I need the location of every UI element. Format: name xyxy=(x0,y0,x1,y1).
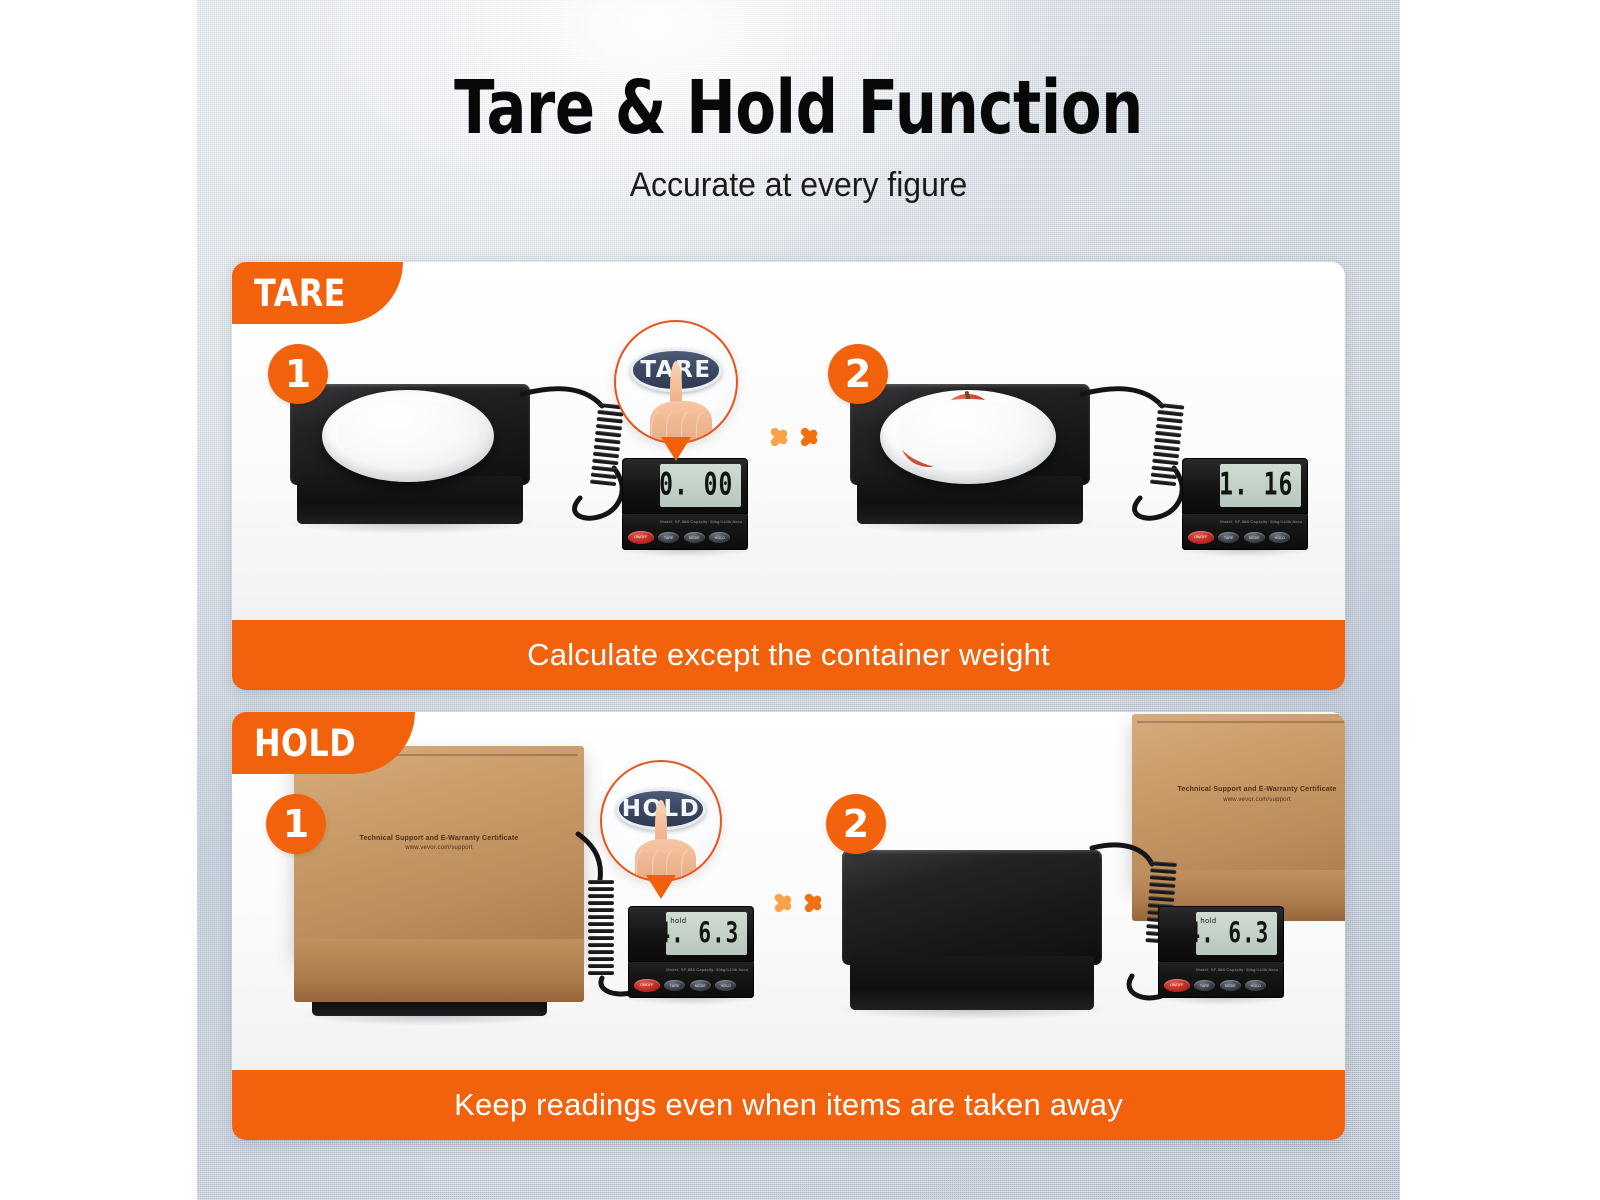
readout-button-housing: Model: SF-888 Capacity: 50kg/110lb Accur… xyxy=(628,961,754,998)
lcd-value: 44. 6.3 xyxy=(1196,917,1269,949)
box-top-face: Technical Support and E-Warranty Certifi… xyxy=(294,746,584,956)
tare-button[interactable]: TARE xyxy=(658,532,679,543)
banner-text: Calculate except the container weight xyxy=(527,637,1050,673)
mode-button[interactable]: MODE xyxy=(690,980,711,991)
box-label-line2: www.vevor.com/support xyxy=(1152,796,1345,805)
readout-screen-housing: hold 44. 6.3 xyxy=(628,906,754,963)
white-plate-with-apples xyxy=(880,390,1056,484)
power-button[interactable]: ON/OFF xyxy=(1188,531,1214,544)
lcd-value: 44. 6.3 xyxy=(666,917,739,949)
readout-model-text: Model: SF-888 Capacity: 50kg/110lb Accur… xyxy=(1220,519,1302,526)
box-label: Technical Support and E-Warranty Certifi… xyxy=(317,834,561,853)
hold-button[interactable]: HOLD xyxy=(1269,532,1290,543)
banner-text: Keep readings even when items are taken … xyxy=(454,1087,1123,1123)
lcd-display: hold 44. 6.3 xyxy=(1196,912,1277,955)
scale-platform-tare-1 xyxy=(290,384,530,524)
apple-3 xyxy=(956,414,1014,469)
lcd-display: 1. 16 xyxy=(1220,464,1301,507)
mode-button[interactable]: MODE xyxy=(1220,980,1241,991)
page-subtitle: Accurate at every figure xyxy=(233,166,1364,205)
hold-button[interactable]: HOLD xyxy=(709,532,730,543)
platform-base xyxy=(297,476,523,524)
hold-button[interactable]: HOLD xyxy=(715,980,736,991)
box-label-line1: Technical Support and E-Warranty Certifi… xyxy=(1152,785,1345,795)
readout-button-housing: Model: SF-888 Capacity: 50kg/110lb Accur… xyxy=(1182,513,1308,550)
box-label-line1: Technical Support and E-Warranty Certifi… xyxy=(317,834,561,844)
readout-button-housing: Model: SF-888 Capacity: 50kg/110lb Accur… xyxy=(1158,961,1284,998)
lcd-display: 0. 00 xyxy=(660,464,741,507)
tab-badge-label: HOLD xyxy=(254,722,356,765)
power-button[interactable]: ON/OFF xyxy=(1164,979,1190,992)
chevron-right-icon-1 xyxy=(772,880,798,924)
tare-photo-area: 0. 00 Model: SF-888 Capacity: 50kg/110lb… xyxy=(232,262,1345,620)
readout-model-text: Model: SF-888 Capacity: 50kg/110lb Accur… xyxy=(1196,967,1278,974)
tare-button[interactable]: TARE xyxy=(1194,980,1215,991)
readout-screen-housing: 0. 00 xyxy=(622,458,748,515)
apple-2 xyxy=(900,412,958,467)
apple-1 xyxy=(942,394,994,442)
tare-button[interactable]: TARE xyxy=(664,980,685,991)
power-button[interactable]: ON/OFF xyxy=(634,979,660,992)
lcd-value: 0. 00 xyxy=(660,468,733,503)
callout-pointer xyxy=(646,875,676,899)
callout-pointer xyxy=(661,437,691,461)
header: Tare & Hold Function Accurate at every f… xyxy=(197,70,1400,205)
hold-photo-area: Technical Support and E-Warranty Certifi… xyxy=(232,712,1345,1070)
panel-hold: Technical Support and E-Warranty Certifi… xyxy=(232,712,1345,1140)
step-number-badge-1: 1 xyxy=(266,794,326,854)
readout-button-row: ON/OFF TARE MODE HOLD xyxy=(634,979,751,992)
readout-button-row: ON/OFF TARE MODE HOLD xyxy=(1164,979,1281,992)
panel-banner-hold: Keep readings even when items are taken … xyxy=(232,1070,1345,1140)
lcd-value: 1. 16 xyxy=(1220,468,1293,503)
step-number-badge-1: 1 xyxy=(268,344,328,404)
tare-button[interactable]: TARE xyxy=(1218,532,1239,543)
readout-screen-housing: 1. 16 xyxy=(1182,458,1308,515)
panel-tare: 0. 00 Model: SF-888 Capacity: 50kg/110lb… xyxy=(232,262,1345,690)
scale-platform-hold-2 xyxy=(842,850,1102,1010)
scale-platform-tare-2 xyxy=(850,384,1090,524)
platform-top xyxy=(842,850,1102,965)
mode-button[interactable]: MODE xyxy=(1244,532,1265,543)
hand-pressing-icon xyxy=(650,372,712,444)
readout-screen-housing: hold 44. 6.3 xyxy=(1158,906,1284,963)
box-front-face xyxy=(294,939,584,1002)
scale-readout-tare-1: 0. 00 Model: SF-888 Capacity: 50kg/110lb… xyxy=(622,458,748,550)
platform-base xyxy=(850,956,1094,1010)
box-label-line2: www.vevor.com/support xyxy=(317,844,561,853)
scale-readout-hold-2: hold 44. 6.3 Model: SF-888 Capacity: 50k… xyxy=(1158,906,1284,998)
readout-button-housing: Model: SF-888 Capacity: 50kg/110lb Accur… xyxy=(622,513,748,550)
page-title: Tare & Hold Function xyxy=(317,70,1279,148)
readout-button-row: ON/OFF TARE MODE HOLD xyxy=(1188,531,1305,544)
mode-button[interactable]: MODE xyxy=(684,532,705,543)
scale-cable-coil-hold-1 xyxy=(588,880,614,978)
chevron-right-icon-2 xyxy=(798,414,824,458)
power-button[interactable]: ON/OFF xyxy=(628,531,654,544)
scale-readout-hold-1: hold 44. 6.3 Model: SF-888 Capacity: 50k… xyxy=(628,906,754,998)
callout-hold: HOLD xyxy=(600,760,722,882)
step-number-badge-2: 2 xyxy=(828,344,888,404)
tab-badge-label: TARE xyxy=(254,272,346,315)
hand-pressing-icon xyxy=(635,812,696,882)
lcd-display: hold 44. 6.3 xyxy=(666,912,747,955)
callout-magnifier-circle: TARE xyxy=(614,320,738,444)
callout-magnifier-circle: HOLD xyxy=(600,760,722,882)
readout-button-row: ON/OFF TARE MODE HOLD xyxy=(628,531,745,544)
chevron-right-icon-1 xyxy=(768,414,794,458)
white-plate-empty xyxy=(322,390,494,482)
callout-tare: TARE xyxy=(614,320,738,444)
readout-model-text: Model: SF-888 Capacity: 50kg/110lb Accur… xyxy=(666,967,748,974)
box-lid-line xyxy=(1137,721,1345,723)
chevron-right-icon-2 xyxy=(802,880,828,924)
step-arrow-tare xyxy=(768,414,824,458)
cardboard-box-on-scale: Technical Support and E-Warranty Certifi… xyxy=(294,746,584,956)
scale-readout-tare-2: 1. 16 Model: SF-888 Capacity: 50kg/110lb… xyxy=(1182,458,1308,550)
step-arrow-hold xyxy=(772,880,828,924)
step-number-badge-2: 2 xyxy=(826,794,886,854)
box-label: Technical Support and E-Warranty Certifi… xyxy=(1152,785,1345,804)
readout-model-text: Model: SF-888 Capacity: 50kg/110lb Accur… xyxy=(660,519,742,526)
hold-button[interactable]: HOLD xyxy=(1245,980,1266,991)
panel-banner-tare: Calculate except the container weight xyxy=(232,620,1345,690)
